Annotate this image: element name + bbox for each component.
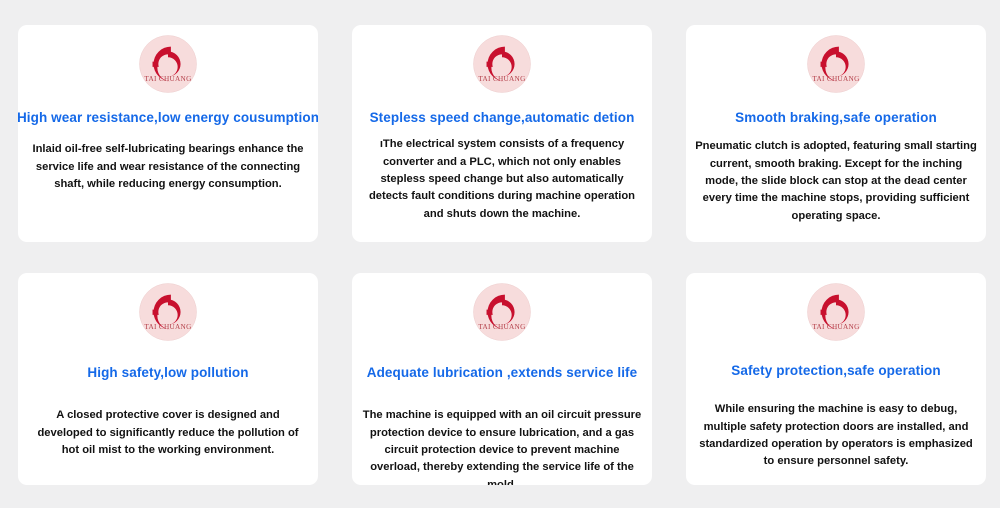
feature-card-high-safety-low-pollution[interactable]: TAI CHUANG High safety,low pollution A c… — [18, 273, 318, 485]
card-title: Safety protection,safe operation — [731, 363, 941, 379]
card-title: High safety,low pollution — [87, 365, 248, 381]
logo-wordmark: TAI CHUANG — [478, 323, 526, 331]
feature-card-smooth-braking[interactable]: TAI CHUANG Smooth braking,safe operation… — [686, 25, 986, 242]
tai-chuang-logo-icon: TAI CHUANG — [807, 35, 865, 93]
card-body-text: ıThe electrical system consists of a fre… — [360, 136, 644, 223]
tai-chuang-logo-icon: TAI CHUANG — [139, 35, 197, 93]
tai-chuang-logo-icon: TAI CHUANG — [807, 283, 865, 341]
card-body-text: Pneumatic clutch is adopted, featuring s… — [694, 138, 978, 225]
feature-card-adequate-lubrication[interactable]: TAI CHUANG Adequate lubrication ,extends… — [352, 273, 652, 485]
logo-wordmark: TAI CHUANG — [144, 75, 192, 83]
card-body-text: Inlaid oil-free self-lubricating bearing… — [26, 141, 310, 193]
feature-card-high-wear-resistance[interactable]: TAI CHUANG High wear resistance,low ener… — [18, 25, 318, 242]
logo-wordmark: TAI CHUANG — [812, 75, 860, 83]
card-title: Stepless speed change,automatic detion — [370, 110, 635, 126]
card-body-text: A closed protective cover is designed an… — [26, 407, 310, 459]
card-title: Adequate lubrication ,extends service li… — [367, 365, 638, 381]
logo-wordmark: TAI CHUANG — [478, 75, 526, 83]
tai-chuang-logo-icon: TAI CHUANG — [473, 283, 531, 341]
card-body-text: While ensuring the machine is easy to de… — [694, 401, 978, 470]
logo-wordmark: TAI CHUANG — [812, 323, 860, 331]
tai-chuang-logo-icon: TAI CHUANG — [473, 35, 531, 93]
card-title: High wear resistance,low energy cousumpt… — [18, 110, 318, 126]
tai-chuang-logo-icon: TAI CHUANG — [139, 283, 197, 341]
feature-card-stepless-speed-change[interactable]: TAI CHUANG Stepless speed change,automat… — [352, 25, 652, 242]
card-title: Smooth braking,safe operation — [735, 110, 937, 126]
feature-card-grid: TAI CHUANG High wear resistance,low ener… — [0, 0, 1000, 508]
card-body-text: The machine is equipped with an oil circ… — [360, 407, 644, 485]
logo-wordmark: TAI CHUANG — [144, 323, 192, 331]
feature-card-safety-protection[interactable]: TAI CHUANG Safety protection,safe operat… — [686, 273, 986, 485]
